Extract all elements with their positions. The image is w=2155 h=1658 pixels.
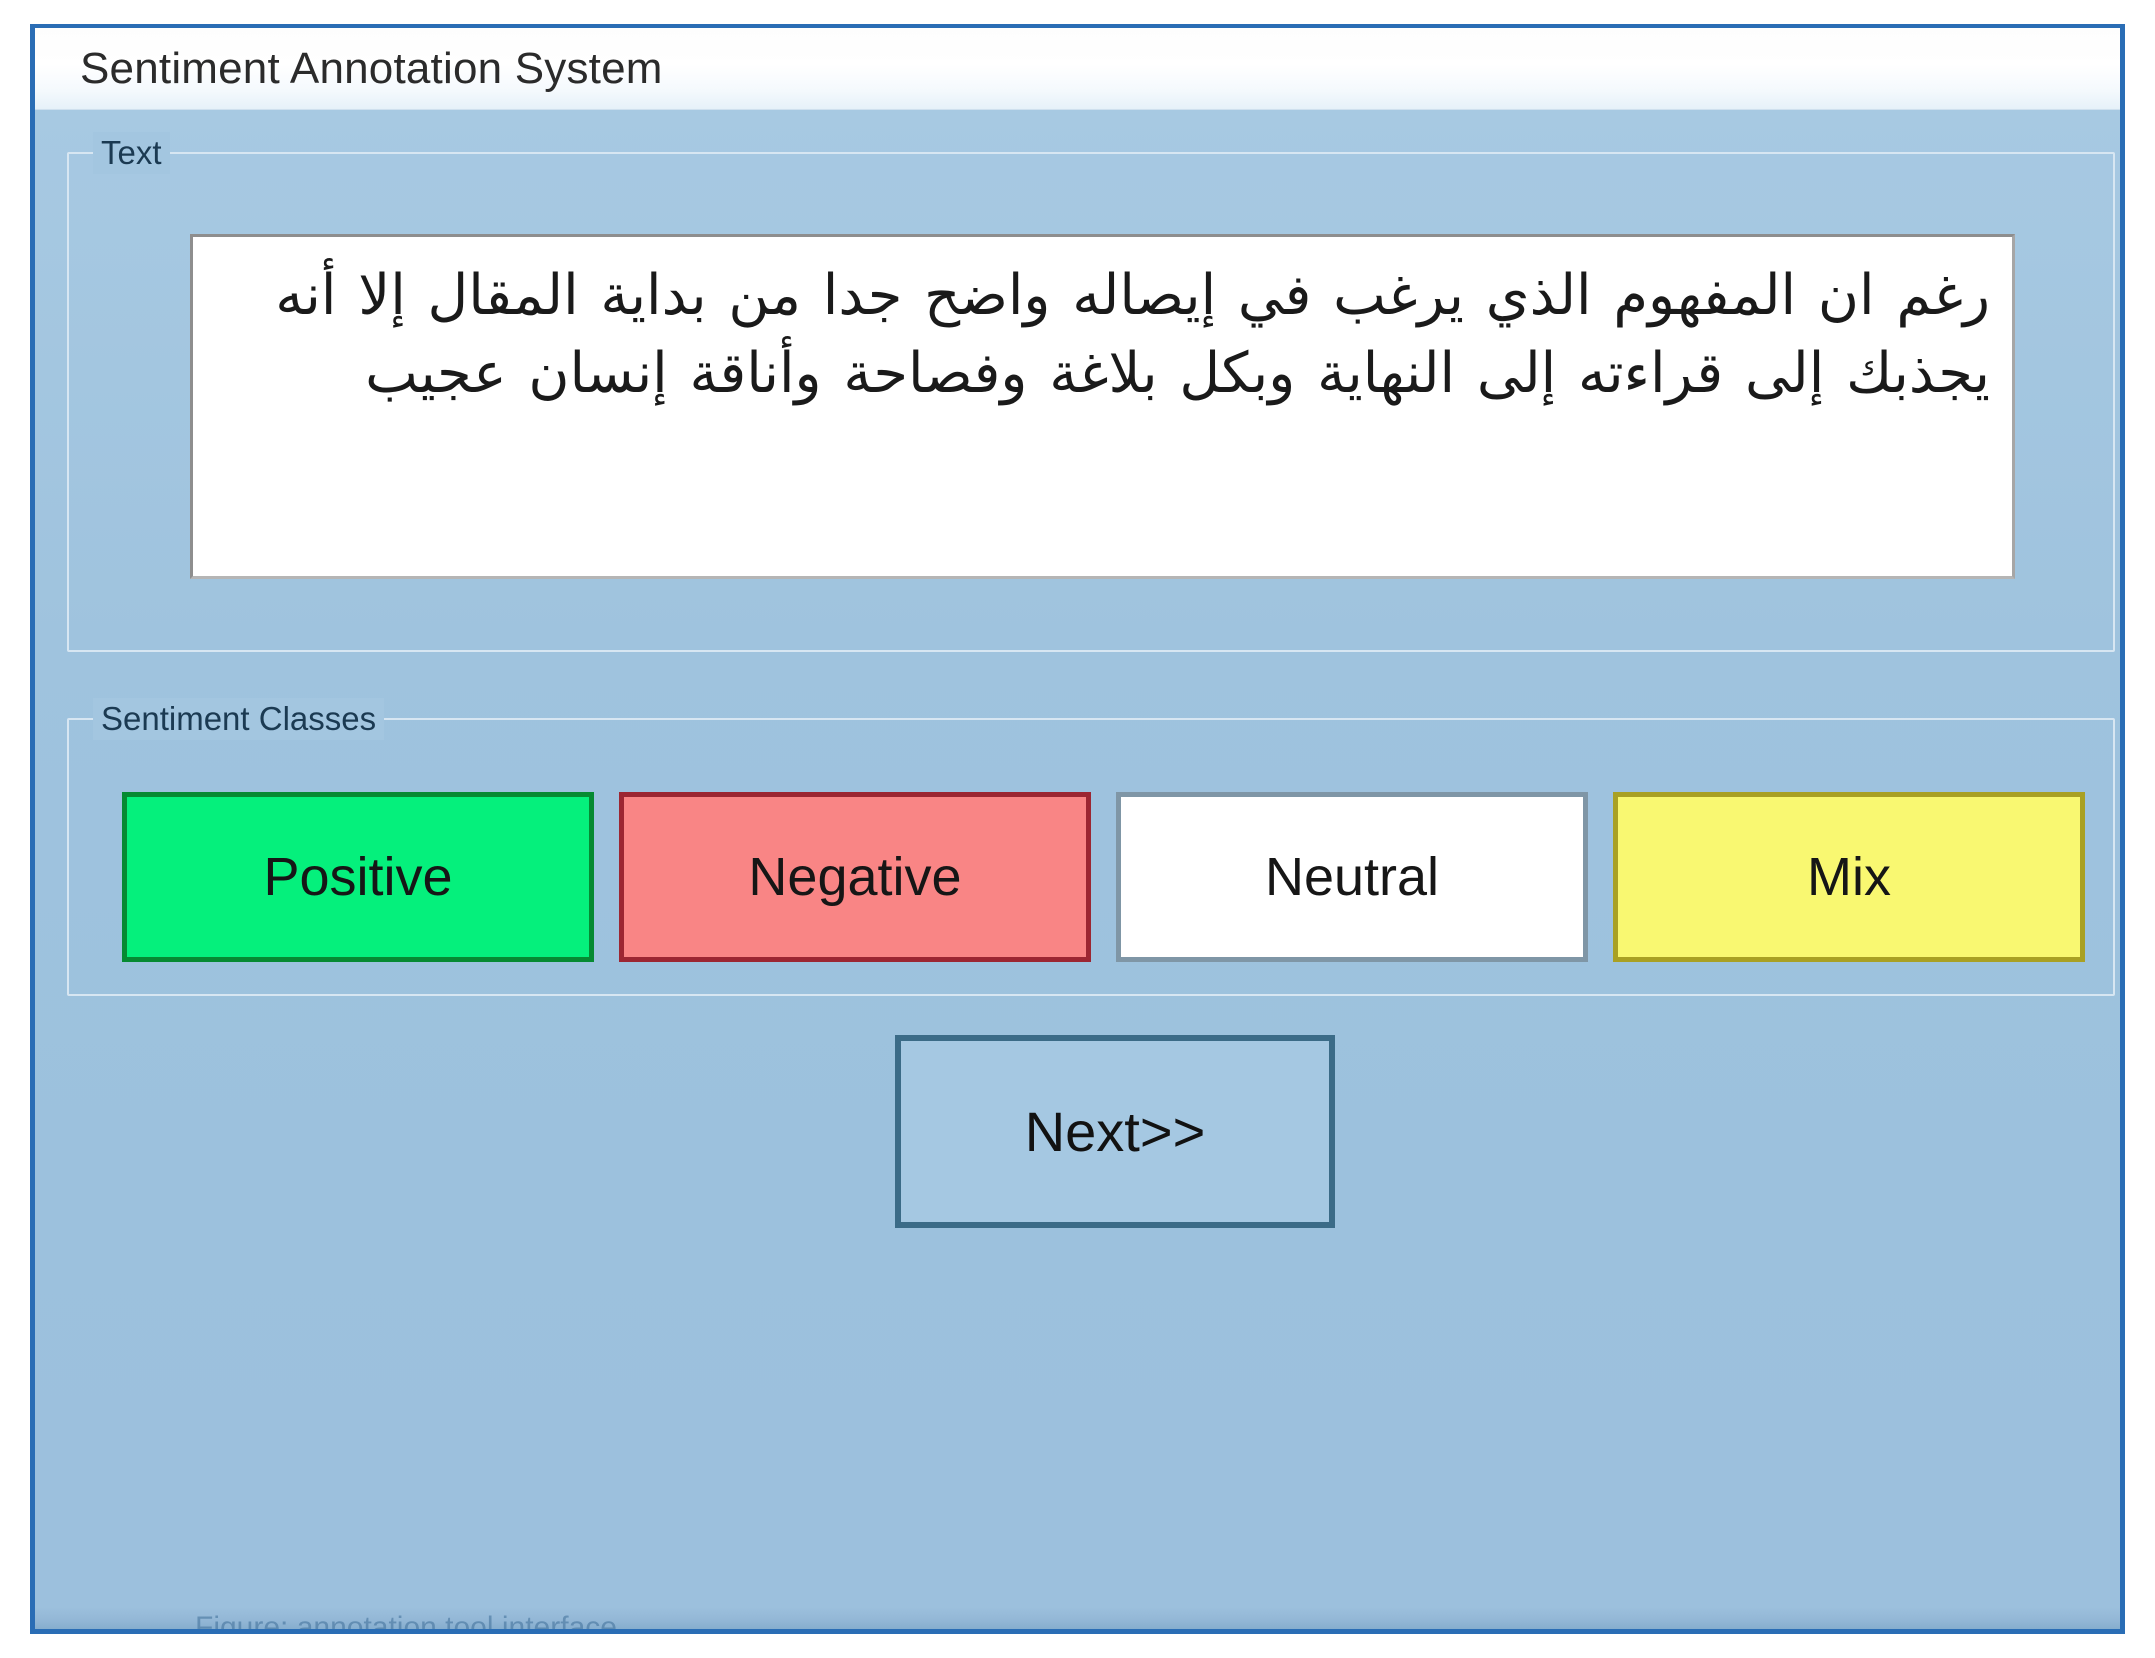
sentiment-button-positive[interactable]: Positive <box>122 792 594 962</box>
next-button[interactable]: Next>> <box>895 1035 1335 1228</box>
sentiment-button-negative[interactable]: Negative <box>619 792 1091 962</box>
text-group-label: Text <box>93 132 170 174</box>
annotation-text-value: رغم ان المفهوم الذي يرغب في إيصاله واضح … <box>215 257 1990 413</box>
title-bar: Sentiment Annotation System <box>35 28 2120 110</box>
sentiment-classes-group-label: Sentiment Classes <box>93 698 384 740</box>
clipped-bottom-strip: Figure: annotation tool interface <box>35 1607 2120 1629</box>
clipped-caption-text: Figure: annotation tool interface <box>195 1613 617 1629</box>
application-window: Sentiment Annotation System Text رغم ان … <box>30 24 2125 1634</box>
sentiment-button-neutral[interactable]: Neutral <box>1116 792 1588 962</box>
sentiment-button-mix[interactable]: Mix <box>1613 792 2085 962</box>
annotation-text-box[interactable]: رغم ان المفهوم الذي يرغب في إيصاله واضح … <box>190 234 2015 579</box>
client-area: Text رغم ان المفهوم الذي يرغب في إيصاله … <box>35 110 2120 1629</box>
text-group-box: Text رغم ان المفهوم الذي يرغب في إيصاله … <box>67 152 2115 652</box>
window-title: Sentiment Annotation System <box>80 44 663 94</box>
sentiment-classes-group-box: Sentiment Classes Positive Negative Neut… <box>67 718 2115 996</box>
